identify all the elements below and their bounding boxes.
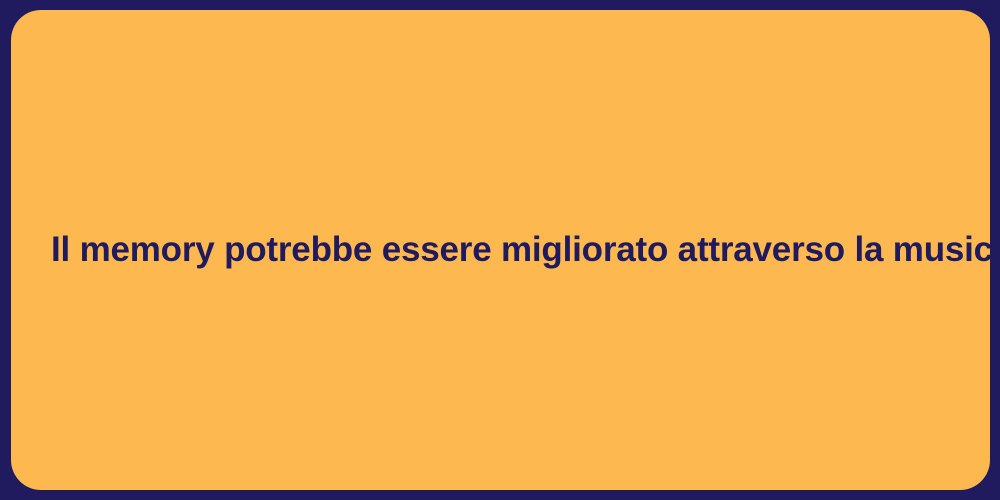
- question-card-body: Il memory potrebbe essere migliorato att…: [11, 227, 990, 273]
- screenshot-root: Il memory potrebbe essere migliorato att…: [0, 0, 1000, 500]
- question-card: Il memory potrebbe essere migliorato att…: [11, 10, 990, 490]
- question-heading: Il memory potrebbe essere migliorato att…: [51, 227, 950, 273]
